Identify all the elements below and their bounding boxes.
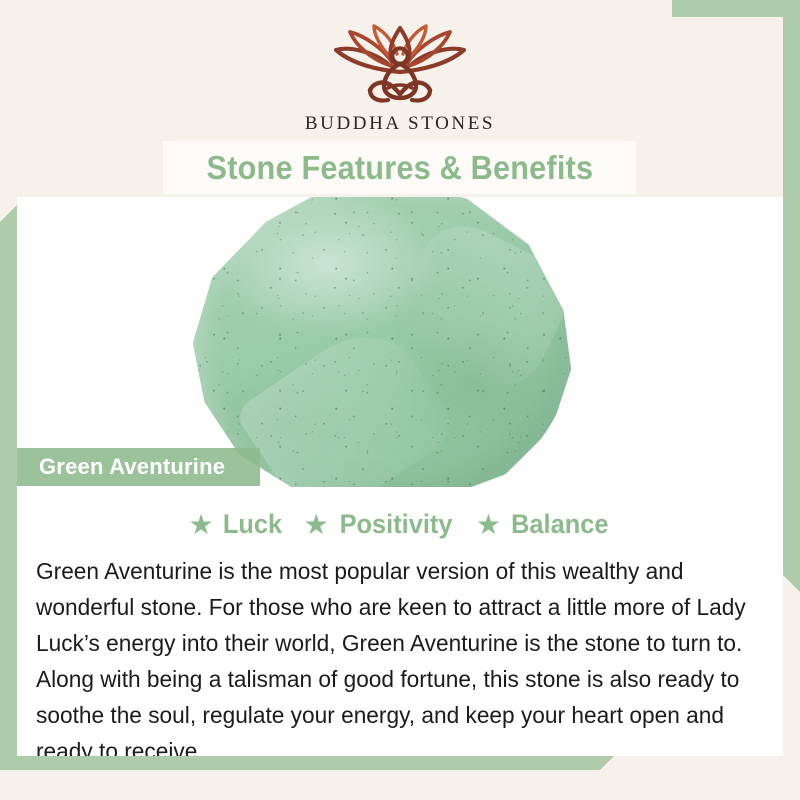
stone-name-tag: Green Aventurine	[17, 448, 260, 486]
content-panel: Green Aventurine ★ Luck ★ Positivity ★ B…	[17, 197, 783, 756]
benefit-item-positivity: ★ Positivity	[304, 509, 456, 540]
title-banner: Stone Features & Benefits	[163, 141, 636, 194]
stone-description: Green Aventurine is the most popular ver…	[36, 553, 746, 756]
brand-logo-block: BUDDHA STONES	[0, 22, 800, 135]
brand-name: BUDDHA STONES	[0, 113, 800, 135]
benefit-label-luck: Luck	[223, 509, 282, 540]
stone-info-card: BUDDHA STONES Stone Features & Benefits …	[0, 0, 800, 800]
star-icon: ★	[304, 511, 329, 539]
frame-strip-top-right	[672, 0, 800, 17]
frame-strip-left	[0, 205, 17, 770]
stone-name-label: Green Aventurine	[17, 454, 225, 480]
benefits-row: ★ Luck ★ Positivity ★ Balance	[17, 509, 783, 540]
benefit-label-balance: Balance	[511, 509, 608, 540]
green-aventurine-stone-image	[189, 197, 575, 487]
stone-speckle-texture	[189, 197, 575, 487]
benefit-label-positivity: Positivity	[339, 509, 452, 540]
page-title: Stone Features & Benefits	[206, 149, 593, 187]
benefit-item-luck: ★ Luck	[189, 509, 284, 540]
stone-photo	[17, 197, 783, 487]
star-icon: ★	[476, 511, 501, 539]
lotus-meditation-figure-icon	[312, 22, 488, 108]
star-icon: ★	[189, 511, 214, 539]
benefit-item-balance: ★ Balance	[476, 509, 612, 540]
